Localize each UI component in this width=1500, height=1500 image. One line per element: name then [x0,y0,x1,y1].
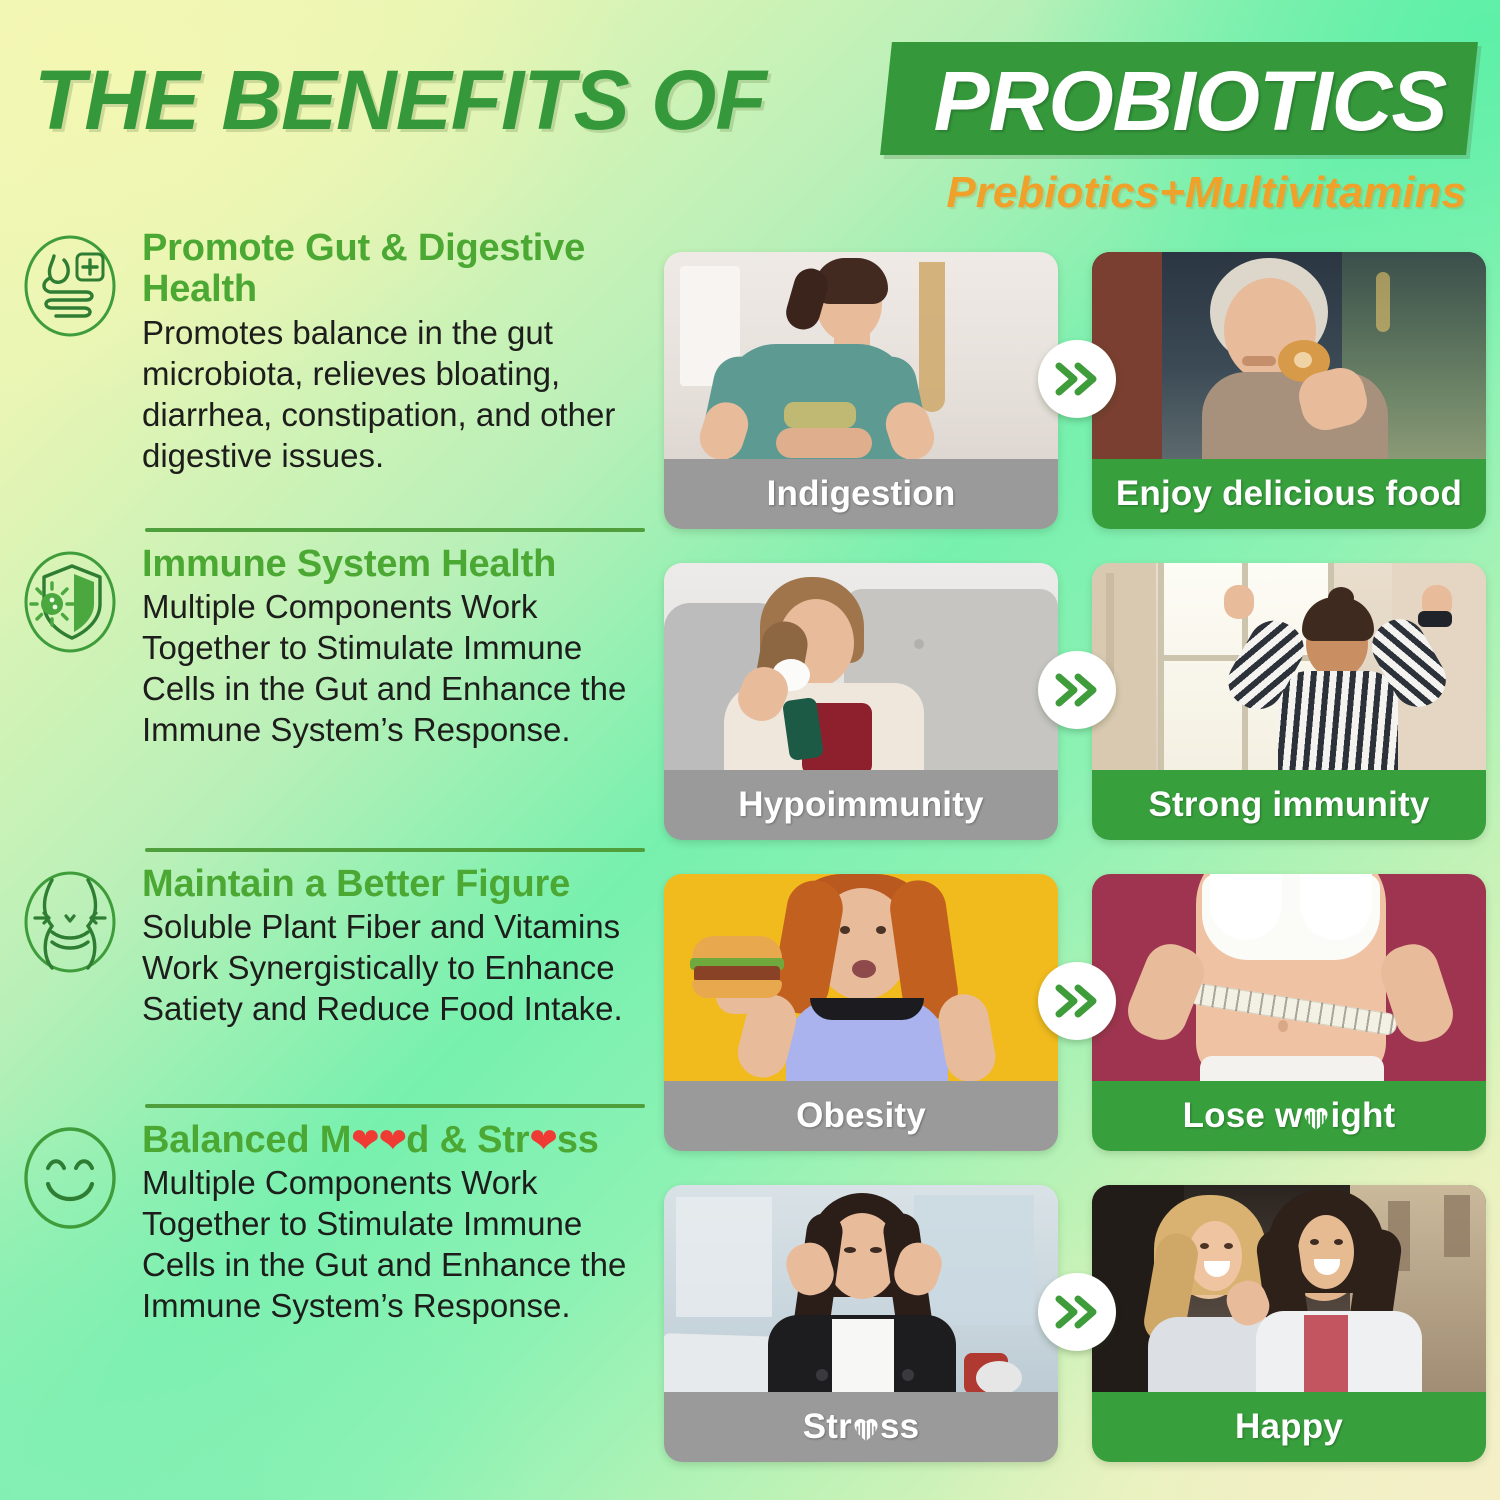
double-chevron-right-icon [1038,962,1116,1040]
benefit-item-gut-health: Promote Gut & Digestive Health Promotes … [0,228,660,476]
comparison-card-before[interactable]: Indigestion [664,252,1058,529]
comparison-card-before[interactable]: Str ss [664,1185,1058,1462]
card-label: Obesity [664,1081,1058,1151]
title-badge-text: PROBIOTICS [905,53,1475,150]
card-label-part-1: Str [803,1407,852,1447]
slim-waist-icon [22,870,118,974]
benefit-item-balanced-mood: Balanced M❤❤d & Str❤ss Multiple Componen… [0,1120,660,1327]
photo-strong-immunity [1092,563,1486,772]
page-title: THE BENEFITS OF [34,52,766,149]
benefit-title-part-1: Balanced M [142,1119,351,1161]
benefit-title-part-2: d & Str [406,1119,529,1161]
heart-icon: ❤ [529,1122,557,1160]
comparison-grid: Indigestion [664,252,1486,1462]
comparison-card-before[interactable]: Obesity [664,874,1058,1151]
section-divider [145,528,645,532]
double-chevron-right-icon [1038,340,1116,418]
comparison-row-weight: Obesity [664,874,1486,1151]
benefit-item-immune-health: Immune System Health Multiple Components… [0,544,660,751]
card-label: Hypoimmunity [664,770,1058,840]
benefits-list: Promote Gut & Digestive Health Promotes … [0,228,660,1488]
photo-happy [1092,1185,1486,1394]
benefit-title-part-3: ss [557,1119,599,1161]
comparison-card-after[interactable]: Enjoy delicious food [1092,252,1486,529]
card-label: Str ss [664,1392,1058,1462]
shield-virus-icon [22,550,118,654]
subtitle: Prebiotics+Multivitamins [946,168,1466,218]
comparison-card-after[interactable]: Strong immunity [1092,563,1486,840]
comparison-row-immunity: Hypoimmunity [664,563,1486,840]
heart-outline-icon [1303,1106,1329,1132]
card-label: Enjoy delicious food [1092,459,1486,529]
comparison-card-after[interactable]: Lose w ight [1092,874,1486,1151]
header: THE BENEFITS OF PROBIOTICS Prebiotics+Mu… [0,0,1500,225]
photo-lose-weight [1092,874,1486,1083]
card-label: Indigestion [664,459,1058,529]
photo-hypoimmunity [664,563,1058,772]
section-divider [145,1104,645,1108]
photo-obesity [664,874,1058,1083]
card-label-part-2: ight [1330,1096,1395,1136]
comparison-row-stress: Str ss [664,1185,1486,1462]
heart-outline-icon [853,1417,879,1443]
comparison-card-after[interactable]: Happy [1092,1185,1486,1462]
stomach-digestive-icon [22,234,118,338]
section-divider [145,848,645,852]
card-label: Strong immunity [1092,770,1486,840]
infographic-poster: THE BENEFITS OF PROBIOTICS Prebiotics+Mu… [0,0,1500,1500]
comparison-row-digestion: Indigestion [664,252,1486,529]
photo-indigestion [664,252,1058,461]
photo-enjoy-food [1092,252,1486,461]
benefit-item-better-figure: Maintain a Better Figure Soluble Plant F… [0,864,660,1030]
photo-stress [664,1185,1058,1394]
double-chevron-right-icon [1038,651,1116,729]
card-label-part-2: ss [880,1407,919,1447]
card-label: Happy [1092,1392,1486,1462]
smiley-face-icon [22,1126,118,1230]
comparison-card-before[interactable]: Hypoimmunity [664,563,1058,840]
double-chevron-right-icon [1038,1273,1116,1351]
card-label-part-1: Lose w [1183,1096,1303,1136]
heart-icon: ❤❤ [351,1122,406,1160]
card-label: Lose w ight [1092,1081,1486,1151]
